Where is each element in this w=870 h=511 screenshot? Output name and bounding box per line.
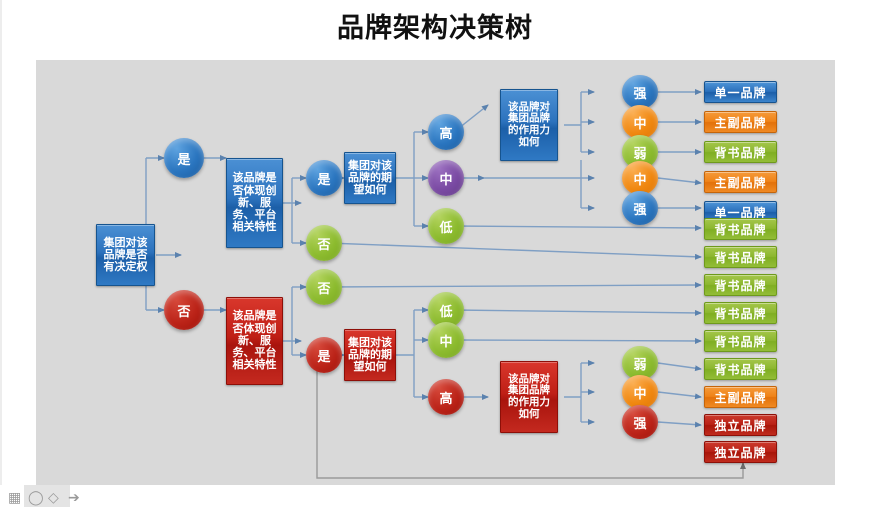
root-yes-circle[interactable]: 是: [164, 138, 204, 178]
result-chip-label: 主副品牌: [714, 389, 766, 406]
root-no-label: 否: [177, 301, 190, 320]
result-chip-label: 独立品牌: [714, 417, 766, 434]
lower-expect-mid-circle[interactable]: 中: [428, 322, 464, 358]
upper-expect-mid-circle[interactable]: 中: [428, 160, 464, 196]
upper-force-box[interactable]: 该品牌对集团品牌的作用力如何: [500, 89, 558, 161]
diagram-canvas: 集团对该品牌是否有决定权 是 否 该品牌是否体现创新、服务、平台相关特性 是 否…: [36, 60, 835, 511]
lower-expect-mid-label: 中: [439, 331, 452, 350]
eraser-icon[interactable]: ◇: [48, 489, 59, 505]
upper-expect-high-circle[interactable]: 高: [428, 114, 464, 150]
upper-feature-label: 该品牌是否体现创新、服务、平台相关特性: [230, 172, 279, 234]
upper-expectation-label: 集团对该品牌的期望如何: [348, 160, 392, 197]
lower-feature-box[interactable]: 该品牌是否体现创新、服务、平台相关特性: [226, 297, 283, 385]
result-chip[interactable]: 背书品牌: [704, 246, 777, 268]
result-chip-label: 背书品牌: [714, 249, 766, 266]
lower-force-weak-label: 弱: [633, 354, 646, 373]
result-chip[interactable]: 主副品牌: [704, 171, 777, 193]
lower-expectation-label: 集团对该品牌的期望如何: [348, 337, 392, 374]
lower-expect-low-label: 低: [439, 301, 452, 320]
upper-force-weak-label: 弱: [633, 143, 646, 162]
root-yes-label: 是: [177, 149, 190, 168]
result-chip-label: 背书品牌: [714, 305, 766, 322]
window-left-rail: [0, 0, 2, 511]
result-chip[interactable]: 背书品牌: [704, 274, 777, 296]
result-chip[interactable]: 背书品牌: [704, 218, 777, 240]
result-chip-label: 背书品牌: [714, 221, 766, 238]
cursor-icon[interactable]: ➔: [68, 489, 80, 505]
result-chip-label: 背书品牌: [714, 144, 766, 161]
lower-force-mid-circle[interactable]: 中: [622, 375, 658, 409]
result-chip[interactable]: 主副品牌: [704, 386, 777, 408]
lower-feature-yes-circle[interactable]: 是: [306, 337, 342, 373]
lower-expectation-box[interactable]: 集团对该品牌的期望如何: [344, 329, 396, 381]
upper-force-mid-1-label: 中: [633, 113, 646, 132]
lower-force-mid-label: 中: [633, 383, 646, 402]
grid-icon[interactable]: ▦: [8, 489, 21, 505]
result-chip[interactable]: 背书品牌: [704, 358, 777, 380]
lower-feature-label: 该品牌是否体现创新、服务、平台相关特性: [230, 310, 279, 372]
upper-force-strong-1-circle[interactable]: 强: [622, 75, 658, 109]
pen-icon[interactable]: ◯: [28, 489, 44, 505]
upper-feature-no-circle[interactable]: 否: [306, 225, 342, 261]
lower-expect-high-circle[interactable]: 高: [428, 379, 464, 415]
result-chip[interactable]: 背书品牌: [704, 330, 777, 352]
result-chip[interactable]: 单一品牌: [704, 81, 777, 103]
result-chip-label: 主副品牌: [714, 114, 766, 131]
upper-feature-no-label: 否: [317, 234, 330, 253]
result-chip-label: 主副品牌: [714, 174, 766, 191]
upper-force-label: 该品牌对集团品牌的作用力如何: [504, 102, 554, 149]
upper-force-mid-1-circle[interactable]: 中: [622, 105, 658, 139]
result-chip[interactable]: 独立品牌: [704, 441, 777, 463]
result-chip-label: 背书品牌: [714, 333, 766, 350]
upper-force-mid-2-label: 中: [633, 169, 646, 188]
upper-force-mid-2-circle[interactable]: 中: [622, 161, 658, 195]
result-chip[interactable]: 主副品牌: [704, 111, 777, 133]
lower-expect-high-label: 高: [439, 388, 452, 407]
lower-feature-yes-label: 是: [317, 346, 330, 365]
root-no-circle[interactable]: 否: [164, 290, 204, 330]
upper-expect-mid-label: 中: [439, 169, 452, 188]
lower-force-box[interactable]: 该品牌对集团品牌的作用力如何: [500, 361, 558, 433]
root-decision-box[interactable]: 集团对该品牌是否有决定权: [96, 224, 155, 286]
upper-force-strong-2-circle[interactable]: 强: [622, 191, 658, 225]
bottom-toolbar: ▦ ◯ ◇ ➔: [0, 485, 870, 511]
root-decision-label: 集团对该品牌是否有决定权: [100, 237, 151, 274]
upper-force-strong-2-label: 强: [633, 199, 646, 218]
upper-feature-box[interactable]: 该品牌是否体现创新、服务、平台相关特性: [226, 158, 283, 248]
upper-force-strong-1-label: 强: [633, 83, 646, 102]
result-chip[interactable]: 背书品牌: [704, 141, 777, 163]
upper-expect-low-circle[interactable]: 低: [428, 208, 464, 244]
lower-feature-no-label: 否: [317, 278, 330, 297]
upper-expectation-box[interactable]: 集团对该品牌的期望如何: [344, 152, 396, 204]
result-chip-label: 独立品牌: [714, 444, 766, 461]
page-title: 品牌架构决策树: [0, 6, 870, 45]
result-chip-label: 单一品牌: [714, 84, 766, 101]
lower-force-label: 该品牌对集团品牌的作用力如何: [504, 374, 554, 421]
upper-expect-high-label: 高: [439, 123, 452, 142]
lower-force-strong-label: 强: [633, 413, 646, 432]
upper-feature-yes-label: 是: [317, 169, 330, 188]
upper-feature-yes-circle[interactable]: 是: [306, 160, 342, 196]
upper-expect-low-label: 低: [439, 217, 452, 236]
result-chip-label: 背书品牌: [714, 361, 766, 378]
result-chip[interactable]: 背书品牌: [704, 302, 777, 324]
lower-force-strong-circle[interactable]: 强: [622, 405, 658, 439]
lower-feature-no-circle[interactable]: 否: [306, 269, 342, 305]
result-chip-label: 背书品牌: [714, 277, 766, 294]
result-chip[interactable]: 独立品牌: [704, 414, 777, 436]
